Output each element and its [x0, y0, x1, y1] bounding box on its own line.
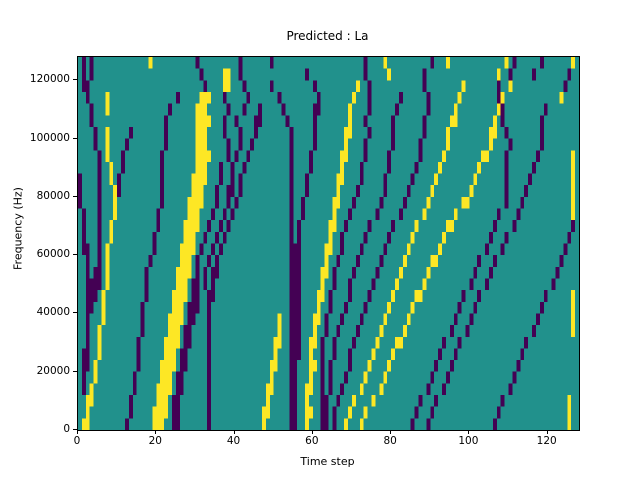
- matplotlib-figure: Predicted : La 0200004000060000800001000…: [0, 0, 640, 480]
- x-tick-mark: [77, 430, 78, 434]
- y-tick-mark: [73, 79, 77, 80]
- y-tick-mark: [73, 254, 77, 255]
- y-tick-mark: [73, 371, 77, 372]
- y-tick-mark: [73, 196, 77, 197]
- x-axis-label: Time step: [77, 455, 578, 468]
- x-tick-label: 60: [282, 435, 342, 447]
- page-title: Predicted : La: [77, 28, 578, 44]
- x-tick-label: 100: [438, 435, 498, 447]
- y-tick-label: 0: [8, 423, 70, 435]
- y-tick-mark: [73, 138, 77, 139]
- x-tick-mark: [155, 430, 156, 434]
- x-tick-label: 40: [204, 435, 264, 447]
- x-tick-label: 80: [360, 435, 420, 447]
- y-axis-label: Frequency (Hz): [12, 129, 25, 329]
- y-axis-tick-group: 020000400006000080000100000120000: [0, 0, 70, 480]
- x-tick-label: 20: [125, 435, 185, 447]
- x-tick-mark: [234, 430, 235, 434]
- y-tick-mark: [73, 312, 77, 313]
- y-tick-label: 20000: [8, 365, 70, 377]
- heatmap-image: [78, 57, 579, 430]
- x-tick-mark: [390, 430, 391, 434]
- heatmap-plot-area: [77, 56, 580, 431]
- x-tick-mark: [312, 430, 313, 434]
- y-tick-label: 120000: [8, 73, 70, 85]
- x-tick-label: 0: [47, 435, 107, 447]
- x-tick-mark: [468, 430, 469, 434]
- x-tick-label: 120: [517, 435, 577, 447]
- x-tick-mark: [547, 430, 548, 434]
